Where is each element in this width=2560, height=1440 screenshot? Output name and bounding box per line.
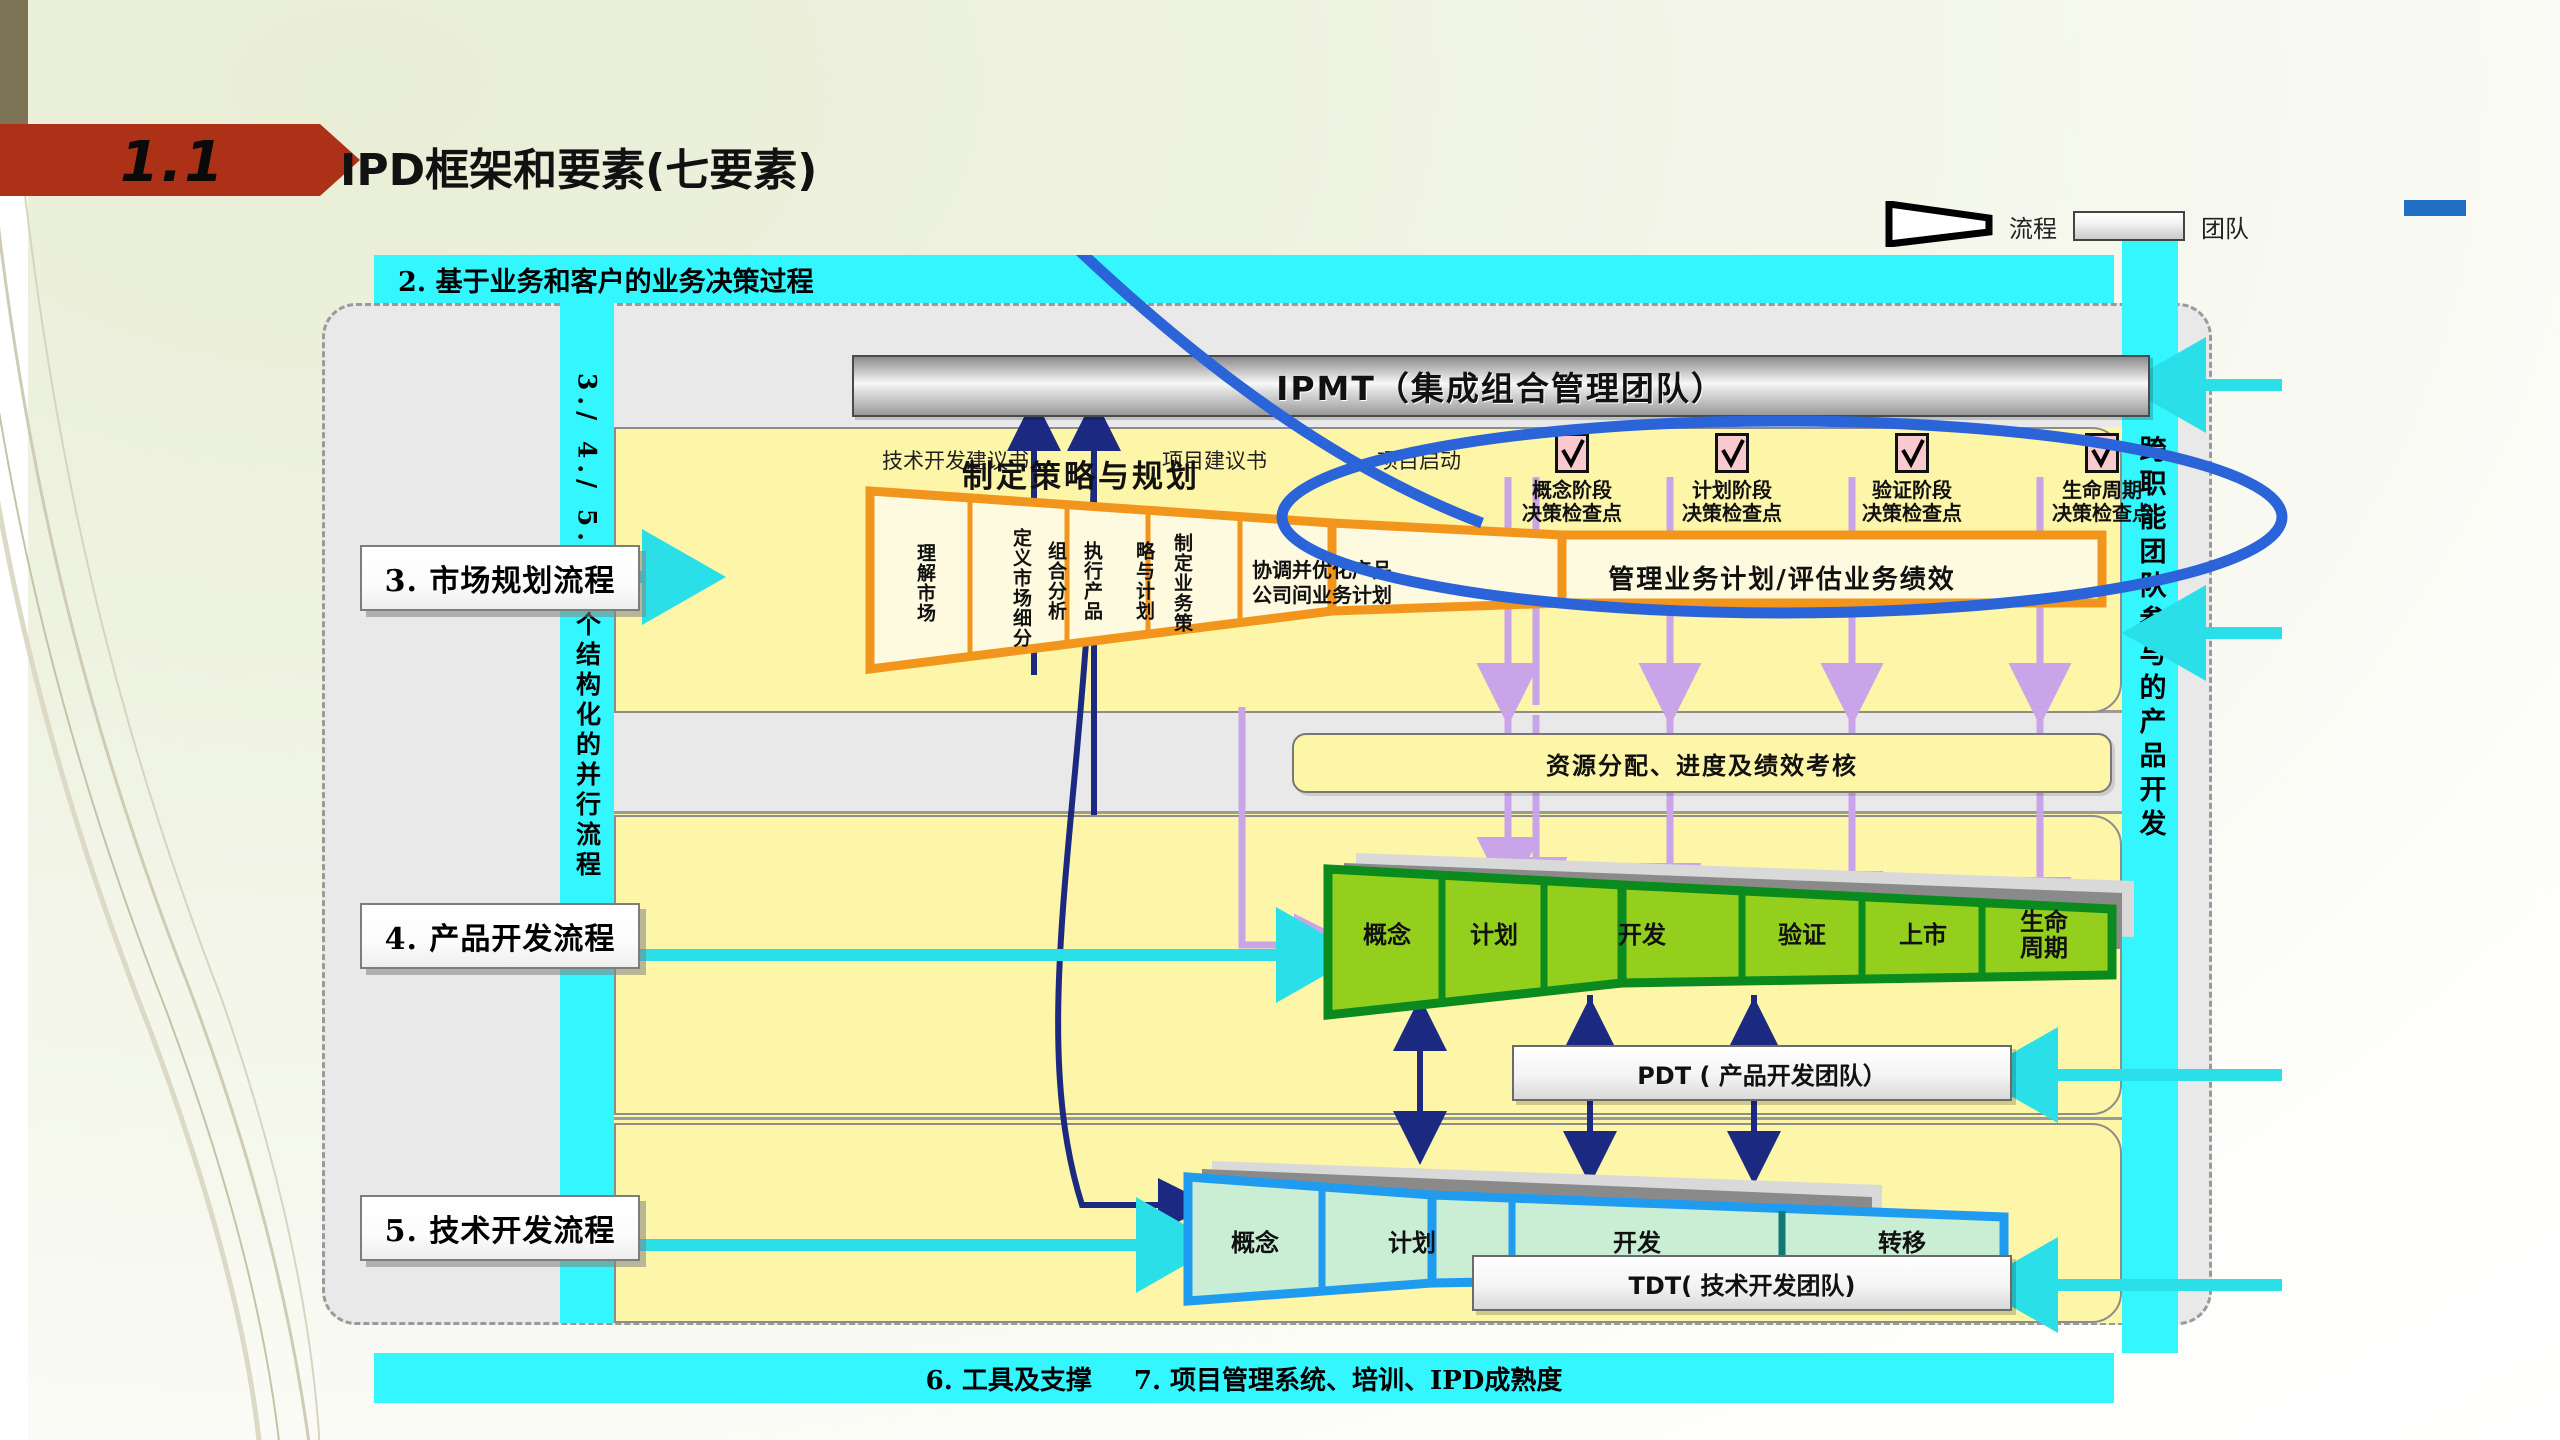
- legend-team-label: 团队: [2201, 209, 2249, 244]
- chapter-number: 1.1: [120, 130, 225, 195]
- slide-header: 1.1 IPD框架和要素(七要素): [0, 124, 1010, 196]
- row-label-product-dev[interactable]: 4. 产品开发流程: [360, 903, 640, 969]
- checkpoint-plan[interactable]: 计划阶段 决策检查点: [1642, 433, 1822, 525]
- market-planning-title: 制定策略与规划: [962, 451, 1200, 496]
- pd-stage-launch: 上市: [1864, 915, 1982, 955]
- mp-stage-manage-business-plan: 管理业务计划/评估业务绩效: [1472, 545, 2092, 615]
- mp-stage-execute-product: 执行产品: [1070, 515, 1112, 647]
- banner-bottom-right-label: 7. 项目管理系统、培训、IPD成熟度: [1134, 1360, 1562, 1397]
- td-stage-concept: 概念: [1200, 1220, 1310, 1260]
- resource-allocation-box[interactable]: 资源分配、进度及绩效考核: [1292, 733, 2112, 793]
- pdt-team-box[interactable]: PDT ( 产品开发团队）: [1512, 1045, 2012, 1101]
- banner-tools-and-support: 6. 工具及支撑 7. 项目管理系统、培训、IPD成熟度: [374, 1353, 2114, 1403]
- checkpoint-stage-label: 生命周期: [2012, 479, 2192, 502]
- banner-bottom-left-label: 6. 工具及支撑: [926, 1360, 1092, 1397]
- page-title: IPD框架和要素(七要素): [340, 134, 817, 198]
- page-title-cn: 框架和要素(七要素): [425, 145, 817, 196]
- td-stage-develop: 开发: [1522, 1220, 1752, 1260]
- td-stage-plan: 计划: [1332, 1220, 1492, 1260]
- rectangle-shape-icon: [2073, 211, 2185, 241]
- pd-stage-concept: 概念: [1332, 915, 1442, 955]
- row-label-market-planning[interactable]: 3. 市场规划流程: [360, 545, 640, 611]
- legend: 流程 团队: [1885, 198, 2249, 254]
- checkpoint-verify[interactable]: 验证阶段 决策检查点: [1822, 433, 2002, 525]
- pd-stage-develop: 开发: [1544, 915, 1740, 955]
- mp-stage-coordinate-optimize: 协调并优化产品 公司间业务计划: [1212, 543, 1432, 623]
- mp-stage-strategy-plan: 略与计划: [1122, 517, 1164, 645]
- checkbox-icon: [1715, 433, 1749, 473]
- checkbox-icon: [2085, 433, 2119, 473]
- pd-stage-verify: 验证: [1742, 915, 1862, 955]
- pd-stage-plan: 计划: [1446, 915, 1542, 955]
- checkpoint-concept[interactable]: 概念阶段 决策检查点: [1482, 433, 1662, 525]
- checkpoint-stage-label: 计划阶段: [1642, 479, 1822, 502]
- ipd-framework-diagram: 2. 基于业务和客户的业务决策过程 3./ 4./ 5. 三个结构化的并行流程 …: [322, 255, 2462, 1415]
- td-stage-transfer: 转移: [1802, 1220, 2002, 1260]
- checkpoint-suffix-label: 决策检查点: [2012, 502, 2192, 525]
- vertical-strip-left: 3./ 4./ 5. 三个结构化的并行流程: [560, 303, 614, 1323]
- vertical-left-text: 三个结构化的并行流程: [575, 581, 600, 881]
- checkbox-icon: [1895, 433, 1929, 473]
- left-accent-band: [0, 0, 28, 1440]
- legend-process-label: 流程: [2009, 209, 2057, 244]
- pd-stage-lifecycle: 生命 周期: [1984, 901, 2104, 969]
- row-label-tech-dev[interactable]: 5. 技术开发流程: [360, 1195, 640, 1261]
- lane-gap-2: [614, 1117, 2122, 1120]
- checkpoint-stage-label: 验证阶段: [1822, 479, 2002, 502]
- page-title-en: IPD: [340, 145, 425, 196]
- mp-stage-understand-market: 理解市场: [900, 513, 948, 653]
- funnel-shape-icon: [1885, 201, 1993, 252]
- doc-label-project-start: 项目启动: [1377, 445, 1461, 475]
- checkbox-icon: [1555, 433, 1589, 473]
- blue-tab-decoration: [2404, 200, 2466, 216]
- checkpoint-suffix-label: 决策检查点: [1642, 502, 1822, 525]
- checkpoint-stage-label: 概念阶段: [1482, 479, 1662, 502]
- ipmt-label: IPMT（集成组合管理团队）: [1276, 362, 1726, 410]
- tdt-team-box[interactable]: TDT( 技术开发团队): [1472, 1255, 2012, 1311]
- checkpoint-suffix-label: 决策检查点: [1482, 502, 1662, 525]
- checkpoint-suffix-label: 决策检查点: [1822, 502, 2002, 525]
- banner-business-decision-process: 2. 基于业务和客户的业务决策过程: [374, 255, 2114, 303]
- banner-top-label: 2. 基于业务和客户的业务决策过程: [398, 260, 814, 299]
- checkpoint-lifecycle[interactable]: 生命周期 决策检查点: [2012, 433, 2192, 525]
- vertical-left-numbers: 3./ 4./ 5.: [575, 373, 600, 547]
- mp-stage-business-strategy: 制定业务策: [1160, 513, 1202, 653]
- ipmt-bar[interactable]: IPMT（集成组合管理团队）: [852, 355, 2150, 417]
